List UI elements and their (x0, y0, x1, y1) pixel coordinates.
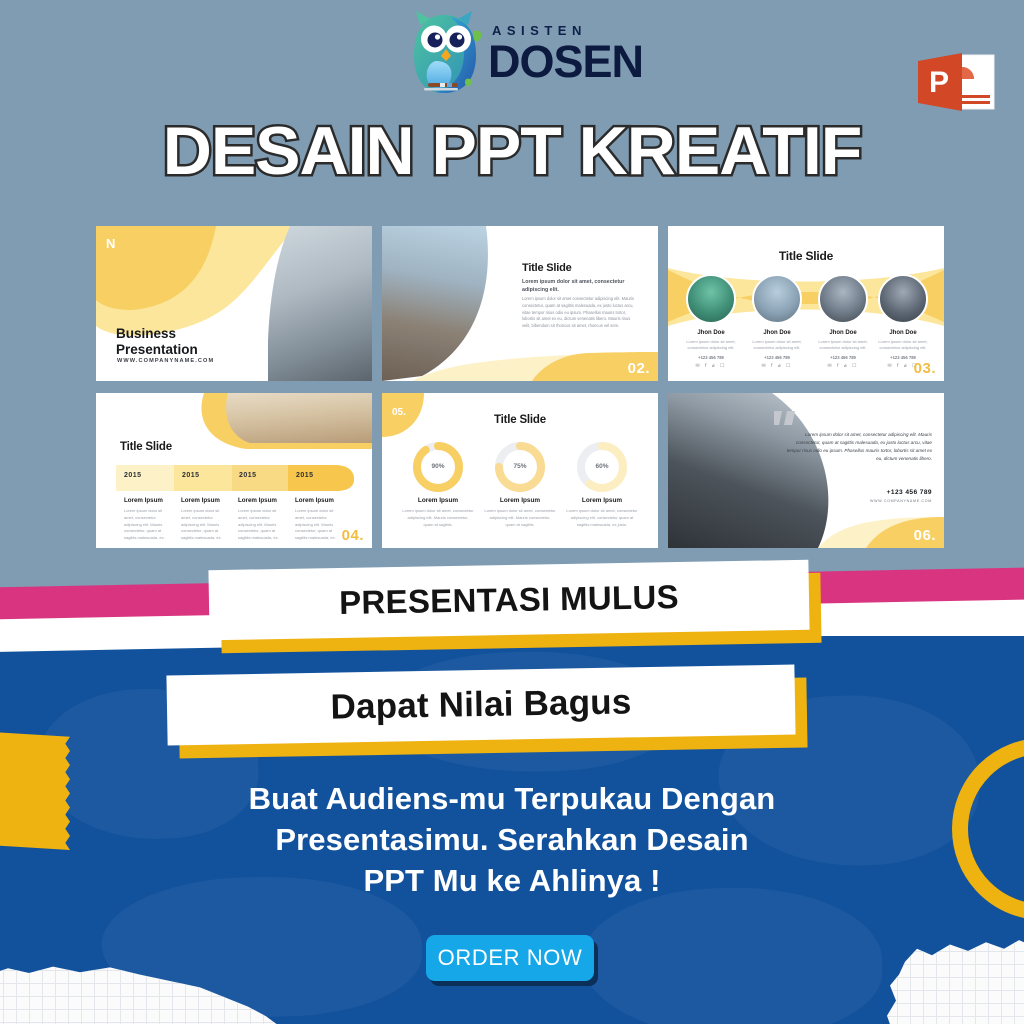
team-member-name: Jhon Doe (814, 330, 872, 336)
quote-mark-icon (774, 411, 798, 430)
promo-paragraph: Buat Audiens-mu Terpukau Dengan Presenta… (0, 778, 1024, 902)
team-member: Jhon Doe Lorem ipsum dolor sit amet, con… (874, 274, 932, 369)
donut-caption-group: Lorem Ipsum Lorem ipsum dolor sit amet, … (402, 497, 474, 528)
column-text: Lorem ipsum dolor sit amet, consectetur … (295, 508, 343, 542)
poster-canvas: ASISTEN DOSEN P DESAIN PPT KREATIF N Bus… (0, 0, 1024, 1024)
social-icons[interactable]: ✉ f 𝑎 ☐ (814, 363, 872, 369)
slide-quote: Lorem ipsum dolor sit amet, consectetur … (784, 431, 932, 463)
slide-number: 02. (628, 360, 650, 377)
donut-text: Lorem ipsum dolor sit amet, consectetur … (484, 508, 556, 528)
team-member-phone: +123 456 789 (682, 355, 740, 360)
timeline-column: Lorem Ipsum Lorem ipsum dolor sit amet, … (238, 497, 286, 542)
banner-dapat-nilai-bagus: Dapat Nilai Bagus (166, 665, 795, 746)
logo-wordmark: ASISTEN DOSEN (488, 24, 643, 84)
order-button-label: ORDER NOW (438, 945, 583, 971)
slide-thumbnail-1[interactable]: N Business Presentation WWW.COMPANYNAME.… (96, 226, 372, 381)
team-member-phone: +123 456 789 (748, 355, 806, 360)
timeline-column: Lorem Ipsum Lorem ipsum dolor sit amet, … (124, 497, 172, 542)
team-member-photo-1 (686, 274, 736, 324)
slide-thumbnail-6[interactable]: Lorem ipsum dolor sit amet, consectetur … (668, 393, 944, 548)
team-member-desc: Lorem ipsum dolor sit amet, consectetur … (814, 339, 872, 352)
team-member: Jhon Doe Lorem ipsum dolor sit amet, con… (748, 274, 806, 369)
team-member-phone: +123 456 789 (814, 355, 872, 360)
banner-text: Dapat Nilai Bagus (330, 682, 632, 727)
slide-lead: Lorem ipsum dolor sit amet, consectetur … (522, 279, 634, 295)
slide-website: WWW.COMPANYNAME.COM (870, 499, 932, 503)
column-text: Lorem ipsum dolor sit amet, consectetur … (181, 508, 229, 542)
social-icons[interactable]: ✉ f 𝑎 ☐ (682, 363, 740, 369)
timeline-column: Lorem Ipsum Lorem ipsum dolor sit amet, … (295, 497, 343, 542)
team-member-desc: Lorem ipsum dolor sit amet, consectetur … (874, 339, 932, 352)
promo-line-2: Presentasimu. Serahkan Desain (0, 819, 1024, 860)
team-member-desc: Lorem ipsum dolor sit amet, consectetur … (682, 339, 740, 352)
promo-line-1: Buat Audiens-mu Terpukau Dengan (0, 778, 1024, 819)
team-member-name: Jhon Doe (748, 330, 806, 336)
timeline-column: Lorem Ipsum Lorem ipsum dolor sit amet, … (181, 497, 229, 542)
donut-caption-group: Lorem Ipsum Lorem ipsum dolor sit amet, … (566, 497, 638, 528)
column-heading: Lorem Ipsum (238, 497, 286, 504)
timeline-year: 2015 (124, 472, 142, 479)
slide-number: 06. (914, 527, 936, 544)
page-title: DESAIN PPT KREATIF (0, 112, 1024, 190)
svg-text:P: P (929, 66, 949, 99)
donut-caption: Lorem Ipsum (402, 497, 474, 504)
slide-number: 03. (914, 360, 936, 377)
column-heading: Lorem Ipsum (295, 497, 343, 504)
slide-thumbnail-3[interactable]: Title Slide Jhon Doe Lorem ipsum dolor s… (668, 226, 944, 381)
slide-thumbnail-5[interactable]: 05. Title Slide 90% 75% 60% Lorem Ipsum … (382, 393, 658, 548)
timeline-year: 2015 (182, 472, 200, 479)
social-icons[interactable]: ✉ f 𝑎 ☐ (748, 363, 806, 369)
slide-thumbnail-4[interactable]: Title Slide 2015 2015 2015 2015 Lorem Ip… (96, 393, 372, 548)
donut-value: 60% (582, 463, 622, 470)
timeline-year: 2015 (296, 472, 314, 479)
promo-line-3: PPT Mu ke Ahlinya ! (0, 860, 1024, 901)
slide-subtitle: WWW.COMPANYNAME.COM (117, 358, 214, 364)
brand-logo: ASISTEN DOSEN (410, 6, 630, 102)
timeline-year: 2015 (239, 472, 257, 479)
blue-texture-blob (581, 885, 884, 1024)
order-now-button[interactable]: ORDER NOW (426, 935, 594, 981)
team-member-photo-2 (752, 274, 802, 324)
column-text: Lorem ipsum dolor sit amet, consectetur … (238, 508, 286, 542)
donut-caption: Lorem Ipsum (484, 497, 556, 504)
team-member: Jhon Doe Lorem ipsum dolor sit amet, con… (814, 274, 872, 369)
column-heading: Lorem Ipsum (124, 497, 172, 504)
logo-main-text: DOSEN (488, 39, 643, 84)
column-heading: Lorem Ipsum (181, 497, 229, 504)
team-member-name: Jhon Doe (682, 330, 740, 336)
banner-presentasi-mulus: PRESENTASI MULUS (208, 560, 809, 640)
team-member-desc: Lorem ipsum dolor sit amet, consectetur … (748, 339, 806, 352)
office-building-photo (268, 226, 372, 381)
donut-value: 90% (418, 463, 458, 470)
slide-thumbnail-2[interactable]: Title Slide Lorem ipsum dolor sit amet, … (382, 226, 658, 381)
column-text: Lorem ipsum dolor sit amet, consectetur … (124, 508, 172, 542)
team-member-photo-3 (818, 274, 868, 324)
donut-caption: Lorem Ipsum (566, 497, 638, 504)
powerpoint-icon: P (916, 51, 996, 113)
owl-icon (410, 9, 484, 99)
slide-title: Title Slide (522, 262, 572, 274)
team-member: Jhon Doe Lorem ipsum dolor sit amet, con… (682, 274, 740, 369)
slide-number: 04. (342, 527, 364, 544)
donut-text: Lorem ipsum dolor sit amet, consectetur … (566, 508, 638, 528)
slide-badge: N (106, 236, 122, 254)
donut-text: Lorem ipsum dolor sit amet, consectetur … (402, 508, 474, 528)
team-member-name: Jhon Doe (874, 330, 932, 336)
slide-body: Lorem ipsum dolor sit amet consectetur a… (522, 296, 636, 330)
donut-value: 75% (500, 463, 540, 470)
donut-caption-group: Lorem Ipsum Lorem ipsum dolor sit amet, … (484, 497, 556, 528)
slide-phone: +123 456 789 (887, 489, 932, 496)
slide-title: Title Slide (668, 249, 944, 263)
banner-text: PRESENTASI MULUS (339, 578, 679, 622)
slide-thumbnail-grid: N Business Presentation WWW.COMPANYNAME.… (96, 226, 944, 548)
slide-title: Business Presentation (116, 326, 246, 357)
team-member-photo-4 (878, 274, 928, 324)
